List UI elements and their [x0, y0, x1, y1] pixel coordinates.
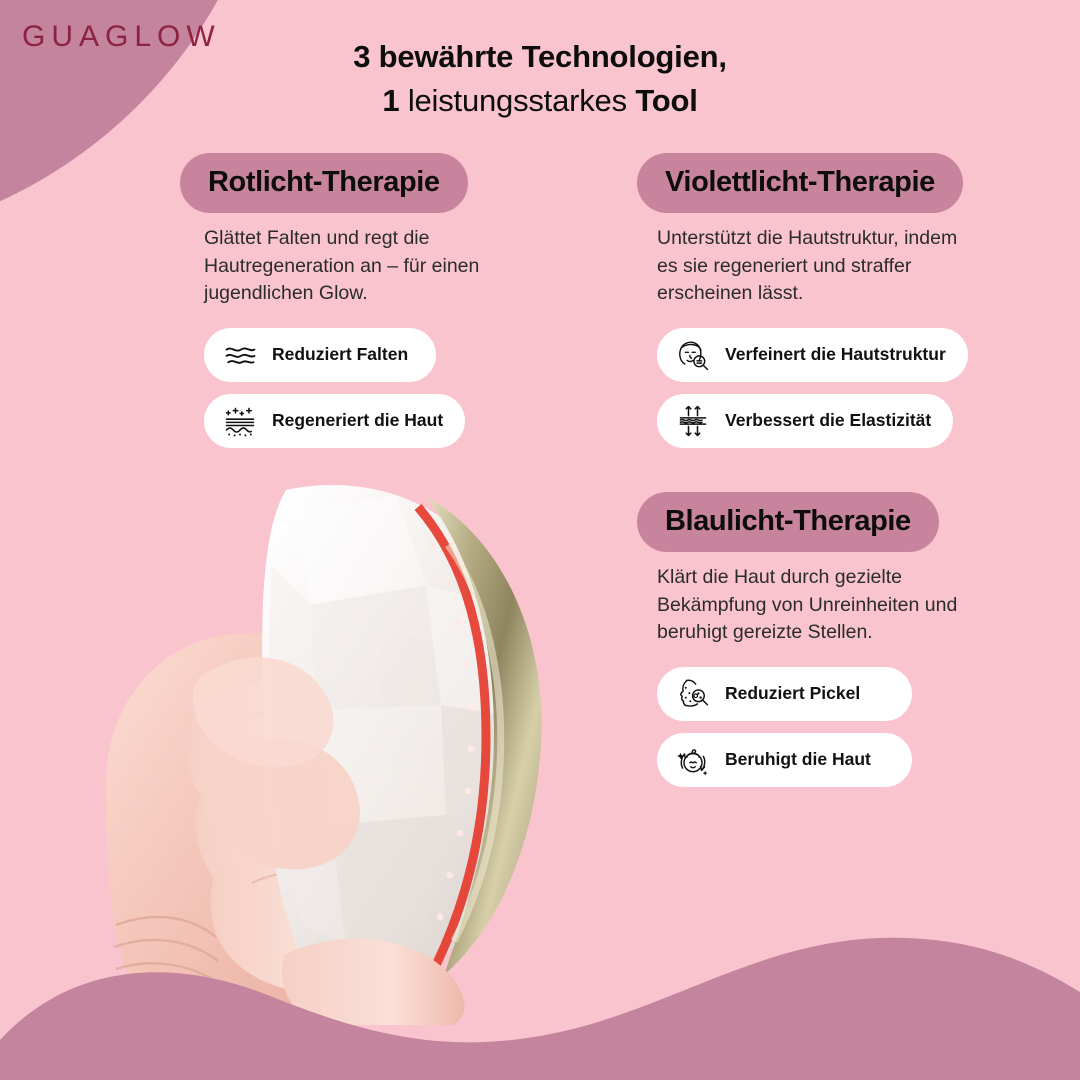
benefit-chip[interactable]: Reduziert Falten — [204, 328, 436, 382]
calm-face-icon — [675, 742, 711, 778]
benefit-chip-label: Reduziert Pickel — [725, 683, 890, 705]
benefit-chip-label: Reduziert Falten — [272, 344, 414, 366]
therapy-description-blaulicht: Klärt die Haut durch gezielte Bekämpfung… — [657, 564, 977, 647]
therapy-block-violettlicht: Violettlicht-Therapie Unterstützt die Ha… — [637, 153, 1002, 448]
skin-regeneration-icon — [222, 403, 258, 439]
benefit-chip-list-violettlicht: Verfeinert die Hautstruktur Verbessert d… — [657, 328, 1002, 448]
infographic-canvas: GUAGLOW 3 bewährte Technologien, 1 leist… — [0, 0, 1080, 1080]
headline-line-2: 1 leistungsstarkes Tool — [215, 79, 865, 123]
page-title: 3 bewährte Technologien, 1 leistungsstar… — [215, 35, 865, 123]
product-image — [96, 455, 596, 1025]
therapy-description-violettlicht: Unterstützt die Hautstruktur, indem es s… — [657, 225, 977, 308]
benefit-chip[interactable]: Verfeinert die Hautstruktur — [657, 328, 968, 382]
elasticity-arrows-icon — [675, 403, 711, 439]
headline-bold-tool: Tool — [635, 83, 697, 118]
therapy-block-blaulicht: Blaulicht-Therapie Klärt die Haut durch … — [637, 492, 1002, 787]
benefit-chip-list-blaulicht: Reduziert Pickel — [657, 667, 1002, 787]
benefit-chip-label: Verfeinert die Hautstruktur — [725, 344, 946, 366]
headline-regular-text: leistungsstarkes — [399, 83, 635, 118]
benefit-chip-list-rotlicht: Reduziert Falten — [204, 328, 510, 448]
headline-bold-one: 1 — [382, 83, 399, 118]
wrinkle-waves-icon — [222, 337, 258, 373]
benefit-chip-label: Regeneriert die Haut — [272, 410, 443, 432]
therapy-title-violettlicht: Violettlicht-Therapie — [637, 153, 963, 213]
therapy-block-rotlicht: Rotlicht-Therapie Glättet Falten und reg… — [180, 153, 510, 448]
brand-logo: GUAGLOW — [22, 22, 221, 52]
benefit-chip-label: Beruhigt die Haut — [725, 749, 890, 771]
benefit-chip-label: Verbessert die Elastizität — [725, 410, 931, 432]
face-magnifier-icon — [675, 337, 711, 373]
benefit-chip[interactable]: Beruhigt die Haut — [657, 733, 912, 787]
benefit-chip[interactable]: Reduziert Pickel — [657, 667, 912, 721]
acne-magnifier-icon — [675, 676, 711, 712]
headline-line-1: 3 bewährte Technologien, — [215, 35, 865, 79]
therapy-title-blaulicht: Blaulicht-Therapie — [637, 492, 939, 552]
therapy-description-rotlicht: Glättet Falten und regt die Hautregenera… — [204, 225, 510, 308]
benefit-chip[interactable]: Regeneriert die Haut — [204, 394, 465, 448]
therapy-title-rotlicht: Rotlicht-Therapie — [180, 153, 468, 213]
benefit-chip[interactable]: Verbessert die Elastizität — [657, 394, 953, 448]
